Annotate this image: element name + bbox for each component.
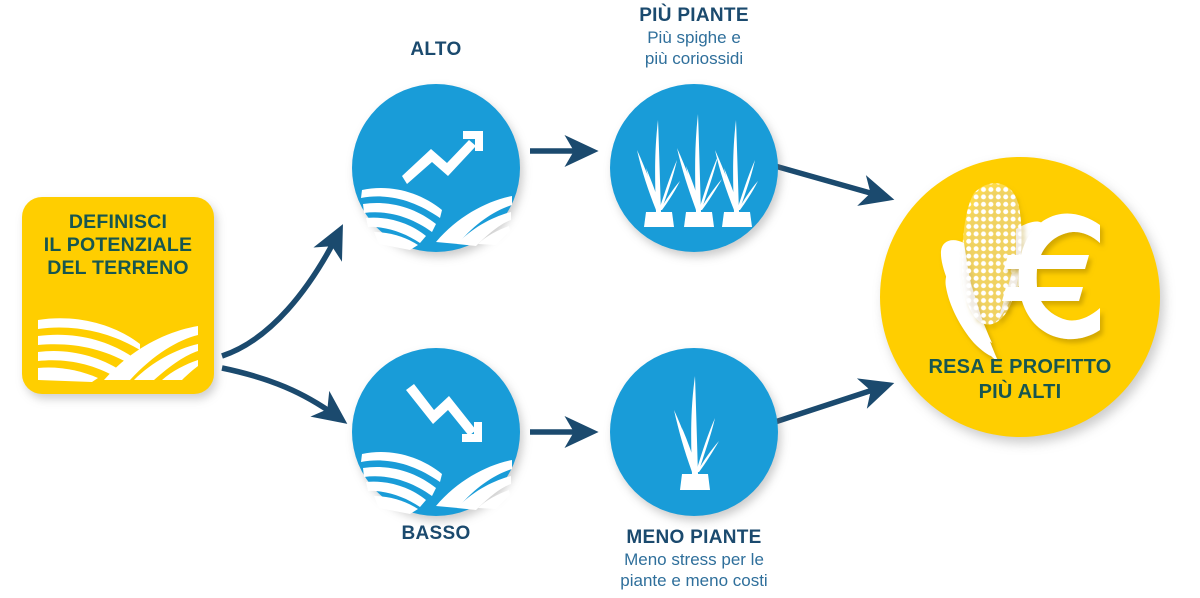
- node-meno-piante[interactable]: [610, 348, 778, 516]
- label-piu-piante: PIÙ PIANTE Più spighe e più coriossidi: [584, 4, 804, 69]
- label-basso: BASSO: [336, 522, 536, 545]
- label-meno-piante-title: MENO PIANTE: [584, 526, 804, 549]
- label-piu-piante-sub-1: Più spighe e: [584, 27, 804, 48]
- result-caption: RESA E PROFITTO PIÙ ALTI: [880, 355, 1160, 405]
- node-alto[interactable]: [352, 84, 520, 252]
- arrow-piu-piante-to-result: [775, 166, 888, 198]
- node-piu-piante[interactable]: [610, 84, 778, 252]
- node-result[interactable]: RESA E PROFITTO PIÙ ALTI: [880, 157, 1160, 437]
- three-grass-plants-icon: [610, 84, 778, 252]
- label-piu-piante-sub-2: più coriossidi: [584, 48, 804, 69]
- arrow-meno-piante-to-result: [775, 385, 888, 422]
- label-piu-piante-title: PIÙ PIANTE: [584, 4, 804, 27]
- result-caption-line-2: PIÙ ALTI: [880, 380, 1160, 405]
- trend-down-over-field-icon: [352, 348, 520, 516]
- label-meno-piante-sub-1: Meno stress per le: [584, 549, 804, 570]
- result-caption-line-1: RESA E PROFITTO: [880, 355, 1160, 380]
- start-card[interactable]: DEFINISCI IL POTENZIALE DEL TERRENO: [22, 197, 214, 394]
- label-meno-piante-sub-2: piante e meno costi: [584, 570, 804, 591]
- label-meno-piante: MENO PIANTE Meno stress per le piante e …: [584, 526, 804, 591]
- arrow-start-to-alto: [222, 230, 340, 356]
- start-card-line-1: DEFINISCI: [22, 211, 214, 234]
- arrow-start-to-basso: [222, 368, 342, 420]
- label-alto: ALTO: [336, 38, 536, 61]
- single-grass-plant-icon: [610, 348, 778, 516]
- infographic-canvas: DEFINISCI IL POTENZIALE DEL TERRENO ALTO: [0, 0, 1200, 598]
- label-alto-title: ALTO: [336, 38, 536, 61]
- node-basso[interactable]: [352, 348, 520, 516]
- trend-up-over-field-icon: [352, 84, 520, 252]
- start-card-title: DEFINISCI IL POTENZIALE DEL TERRENO: [22, 211, 214, 280]
- label-basso-title: BASSO: [336, 522, 536, 545]
- start-card-line-3: DEL TERRENO: [22, 257, 214, 280]
- corn-cob-and-euro-icon: [928, 171, 1124, 371]
- field-rows-icon: [36, 298, 200, 382]
- start-card-line-2: IL POTENZIALE: [22, 234, 214, 257]
